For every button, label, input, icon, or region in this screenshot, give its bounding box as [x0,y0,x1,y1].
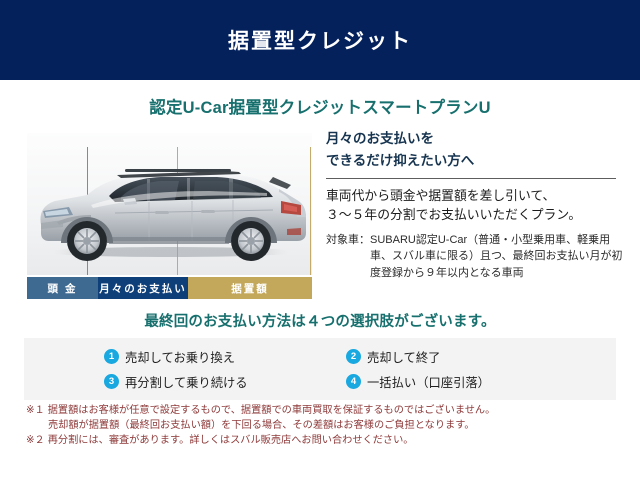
horizontal-divider [326,178,616,179]
footnotes: ※１ 据置額はお客様が任意で設定するもので、据置額での車両買取を保証するものでは… [26,404,616,449]
page-header: 据置型クレジット [0,0,640,80]
target-vehicle-note: 対象車： SUBARU認定U-Car（普通・小型乗用車、軽乗用車、スバル車に限る… [326,232,626,282]
footnote-2: ※２ 再分割には、審査があります。詳しくはスバル販売店へお問い合わせください。 [26,434,616,449]
option-badge-2: 2 [346,349,361,364]
divider-line-residual [310,147,311,275]
options-grid: 1 売却してお乗り換え 2 売却して終了 3 再分割して乗り続ける 4 一括払い… [104,344,604,394]
bar-segment-downpayment: 頭 金 [27,277,98,299]
option-item-1: 1 売却してお乗り換え [104,344,346,369]
target-vehicle-label: 対象車： [326,232,370,282]
option-badge-4: 4 [346,374,361,389]
cost-breakdown-bar: 頭 金 月々のお支払い 据置額 [27,277,312,299]
footnote-2-mark: ※２ [26,434,48,449]
vehicle-cost-figure: 頭 金 月々のお支払い 据置額 [27,133,312,301]
car-illustration [29,155,310,267]
bar-segment-residual: 据置額 [188,277,312,299]
footnote-2-line-1: 再分割には、審査があります。詳しくはスバル販売店へお問い合わせください。 [48,434,414,449]
description-line-1: 車両代から頭金や据置額を差し引いて、 [326,186,626,205]
footnote-1-line-1: 据置額はお客様が任意で設定するもので、据置額での車両買取を保証するものではござい… [48,404,496,419]
bar-segment-monthly: 月々のお支払い [98,277,188,299]
lead-heading: 月々のお支払いを できるだけ抑えたい方へ [326,128,626,172]
page-title: 据置型クレジット [228,25,412,55]
option-item-3: 3 再分割して乗り続ける [104,369,346,394]
target-vehicle-body: SUBARU認定U-Car（普通・小型乗用車、軽乗用車、スバル車に限る）且つ、最… [370,232,626,282]
footnote-1-continued: 売却額が据置額（最終回お支払い額）を下回る場合、その差額はお客様のご負担となりま… [26,419,616,434]
option-label-3: 再分割して乗り続ける [125,373,248,391]
option-badge-1: 1 [104,349,119,364]
plan-description: 車両代から頭金や据置額を差し引いて、 ３〜５年の分割でお支払いいただくプラン。 [326,186,626,225]
option-badge-3: 3 [104,374,119,389]
option-label-1: 売却してお乗り換え [125,348,235,366]
plan-subtitle: 認定U-Car据置型クレジットスマートプランU [0,94,640,118]
option-label-2: 売却して終了 [367,348,440,366]
footnote-1-mark: ※１ [26,404,48,419]
vehicle-photo [27,133,312,275]
options-heading: 最終回のお支払い方法は４つの選択肢がございます。 [0,310,640,331]
option-item-4: 4 一括払い（口座引落） [346,369,588,394]
final-payment-options-panel: 1 売却してお乗り換え 2 売却して終了 3 再分割して乗り続ける 4 一括払い… [24,338,616,400]
lead-line-1: 月々のお支払いを [326,128,626,150]
footnote-1: ※１ 据置額はお客様が任意で設定するもので、据置額での車両買取を保証するものでは… [26,404,616,419]
option-label-4: 一括払い（口座引落） [367,373,490,391]
credit-plan-page: 据置型クレジット 認定U-Car据置型クレジットスマートプランU [0,0,640,480]
description-line-2: ３〜５年の分割でお支払いいただくプラン。 [326,205,626,224]
lead-line-2: できるだけ抑えたい方へ [326,150,626,172]
option-item-2: 2 売却して終了 [346,344,588,369]
plan-description-column: 月々のお支払いを できるだけ抑えたい方へ 車両代から頭金や据置額を差し引いて、 … [326,128,626,281]
